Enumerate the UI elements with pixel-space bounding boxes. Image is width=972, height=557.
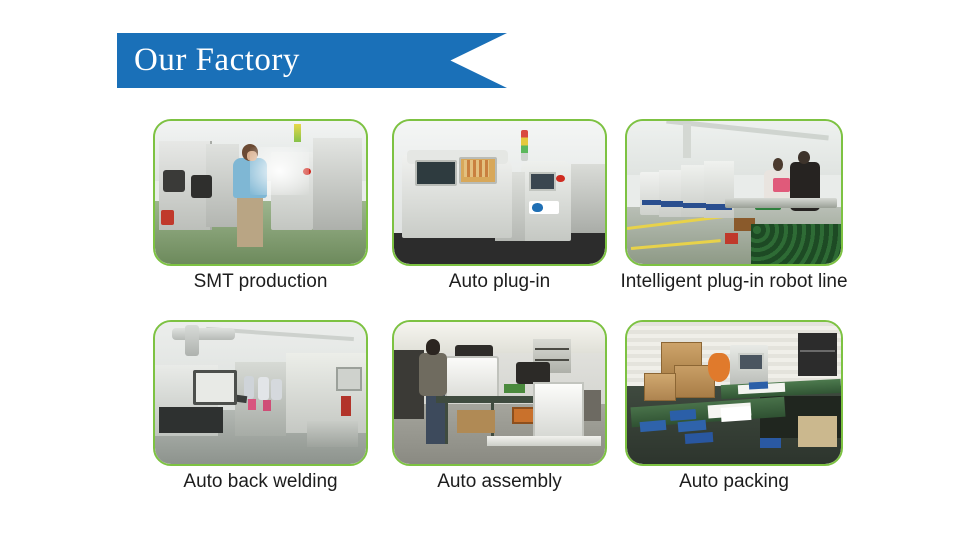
factory-photo-grid: SMT production xyxy=(0,0,972,557)
photo-frame xyxy=(153,119,368,266)
gallery-card-auto-assembly[interactable]: Auto assembly xyxy=(392,320,607,466)
gallery-card-intelligent-plug-in-robot-line[interactable]: Intelligent plug-in robot line xyxy=(625,119,843,266)
photo-auto-plug-in xyxy=(394,121,605,264)
photo-auto-back-welding xyxy=(155,322,366,464)
photo-frame xyxy=(392,119,607,266)
photo-frame xyxy=(153,320,368,466)
photo-frame xyxy=(625,320,843,466)
photo-frame xyxy=(625,119,843,266)
photo-auto-packing xyxy=(627,322,841,464)
factory-gallery-page: Our Factory xyxy=(0,0,972,557)
caption-label: Auto back welding xyxy=(123,471,398,493)
photo-frame xyxy=(392,320,607,466)
photo-smt-production xyxy=(155,121,366,264)
photo-auto-assembly xyxy=(394,322,605,464)
gallery-card-auto-packing[interactable]: Auto packing xyxy=(625,320,843,466)
gallery-card-auto-back-welding[interactable]: Auto back welding xyxy=(153,320,368,466)
caption-label: Intelligent plug-in robot line xyxy=(595,271,873,293)
photo-intelligent-plug-in-robot-line xyxy=(627,121,841,264)
gallery-card-smt-production[interactable]: SMT production xyxy=(153,119,368,266)
gallery-card-auto-plug-in[interactable]: Auto plug-in xyxy=(392,119,607,266)
caption-label: Auto packing xyxy=(595,471,873,493)
caption-label: SMT production xyxy=(123,271,398,293)
